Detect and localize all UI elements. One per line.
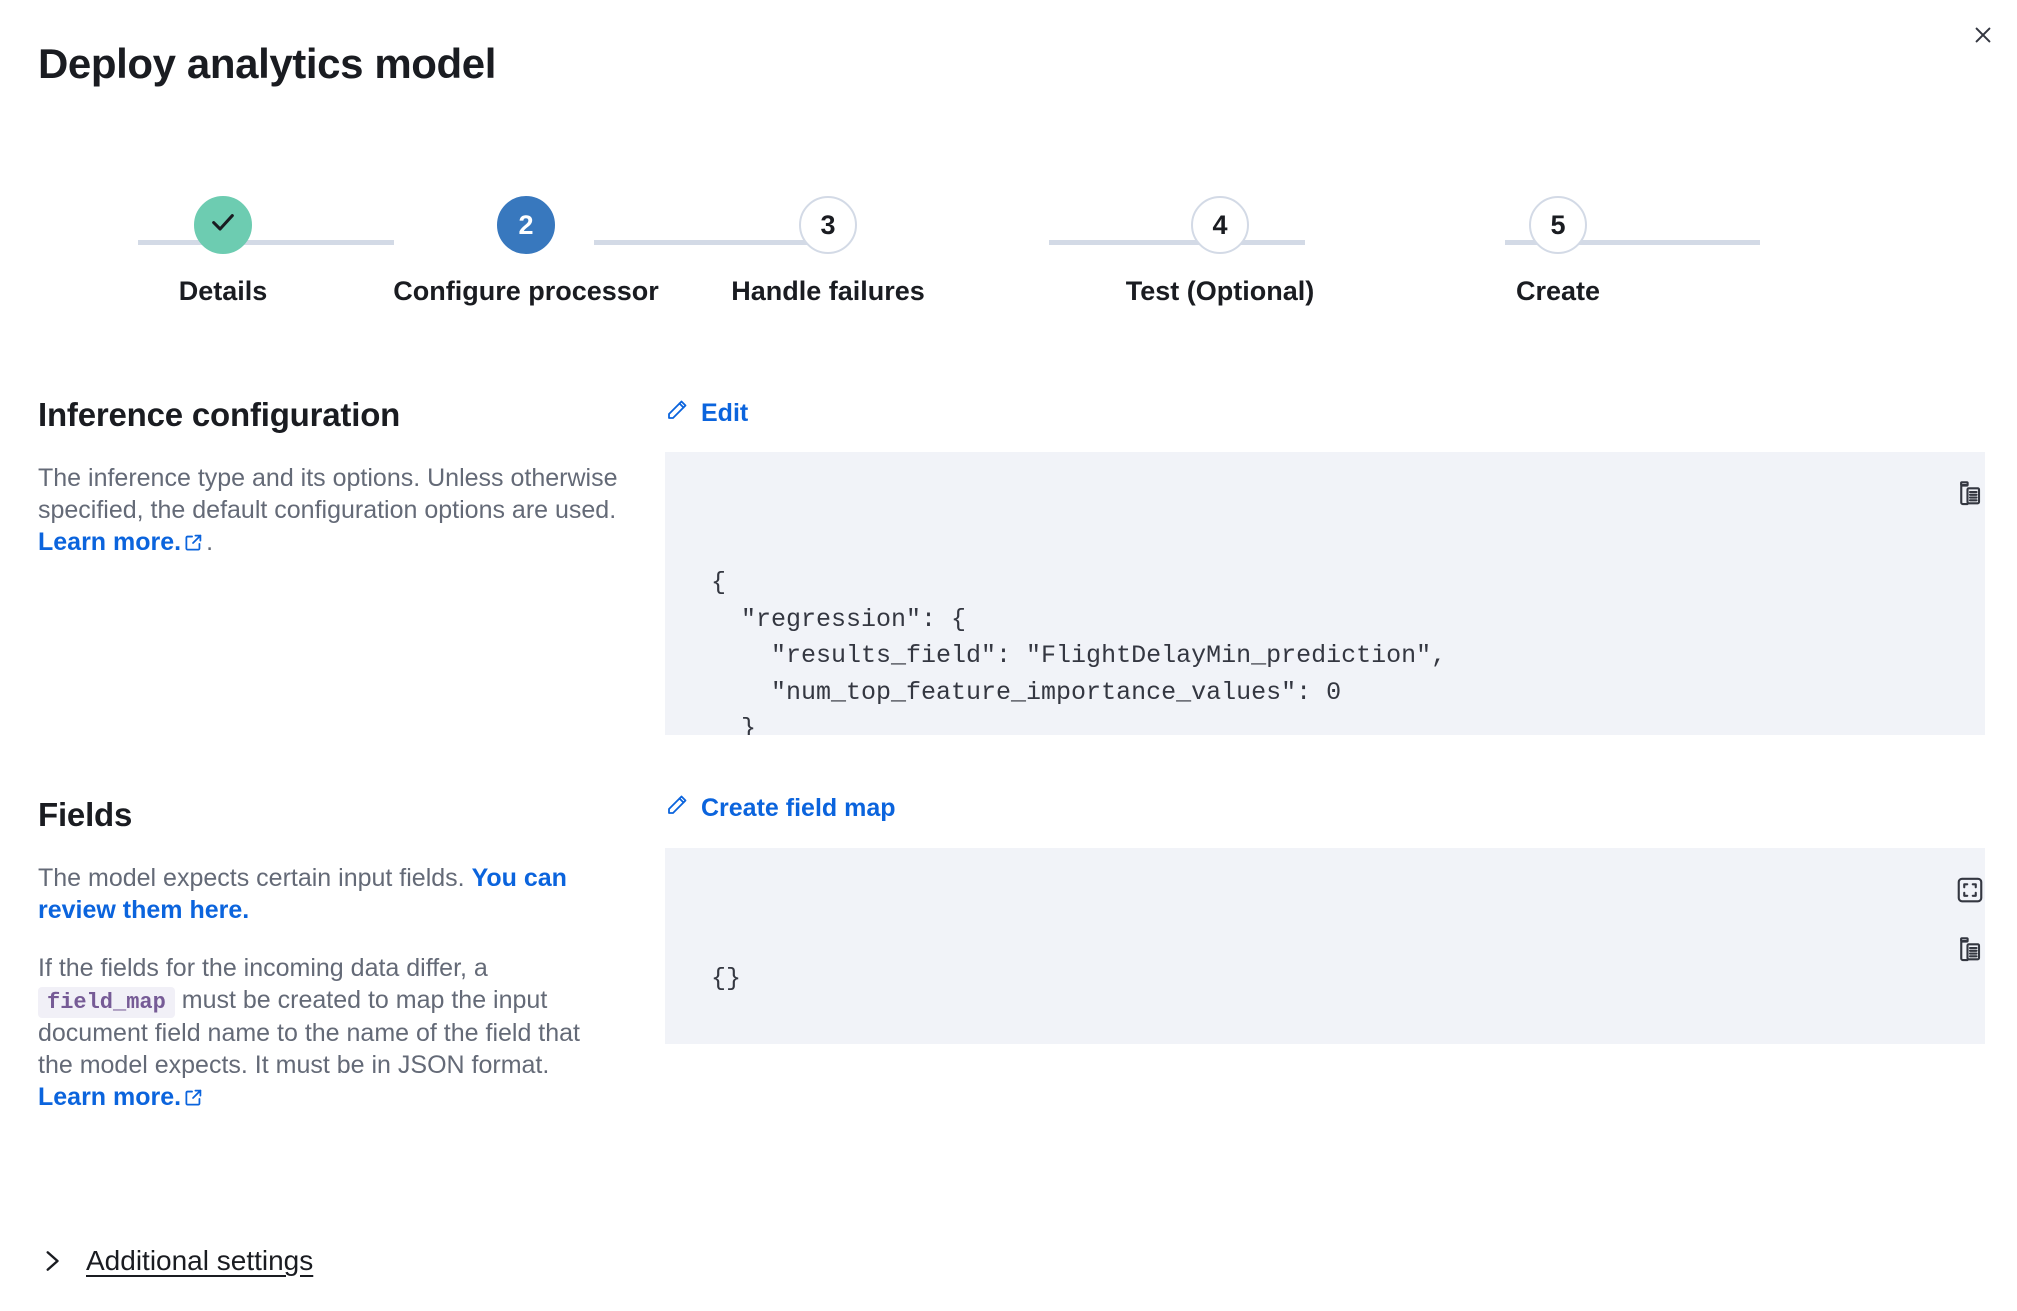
step-circle-1 [194,196,252,254]
fields-desc1-text: The model expects certain input fields. [38,864,472,892]
inference-configuration-description: Inference configuration The inference ty… [38,396,618,560]
edit-inference-config-label: Edit [701,399,748,428]
fields-learn-more-link[interactable]: Learn more. [38,1083,181,1111]
additional-settings-label: Additional settings [86,1245,313,1277]
external-link-icon [184,528,203,560]
inference-learn-more-link[interactable]: Learn more. [38,528,181,556]
pencil-icon [665,793,689,824]
copy-inference-config-button[interactable] [1921,472,1967,518]
step-circle-2: 2 [497,196,555,254]
copy-icon [1903,464,1985,527]
fields-description: Fields The model expects certain input f… [38,796,618,1115]
check-icon [209,208,237,243]
create-field-map-button[interactable]: Create field map [665,793,896,824]
wizard-stepper: Details 2 Configure processor 3 Handle f… [38,196,1860,326]
step-label-4: Test (Optional) [1126,276,1315,307]
step-circle-5: 5 [1529,196,1587,254]
step-label-5: Create [1516,276,1600,307]
fields-desc2-text-start: If the fields for the incoming data diff… [38,954,488,982]
step-circle-4: 4 [1191,196,1249,254]
deploy-model-flyout: Deploy analytics model Details [0,0,2017,1311]
copy-icon [1903,920,1985,983]
inference-desc-text: The inference type and its options. Unle… [38,464,617,524]
inference-configuration-editor: Edit { "regression": { "results_field": … [665,398,1985,735]
copy-field-map-button[interactable] [1921,928,1967,974]
inference-section-description: The inference type and its options. Unle… [38,462,618,560]
chevron-right-icon [38,1248,64,1274]
stepper-step-test-optional[interactable]: 4 Test (Optional) [1120,196,1320,307]
expand-field-map-button[interactable] [1921,868,1967,914]
close-button[interactable] [1961,14,2005,58]
field-map-editor: Create field map {} [665,793,1985,1044]
external-link-icon [184,1083,203,1115]
inference-desc-trailing: . [206,528,213,556]
step-circle-3: 3 [799,196,857,254]
pencil-icon [665,398,689,429]
field-map-code-tools [1921,868,1967,974]
inference-config-code-block[interactable]: { "regression": { "results_field": "Flig… [665,452,1985,735]
field-map-code-text: {} [711,961,1939,998]
step-label-1: Details [179,276,268,307]
inference-section-title: Inference configuration [38,396,618,434]
expand-icon [1903,860,1985,923]
step-label-2: Configure processor [393,276,659,307]
inference-config-code-text: { "regression": { "results_field": "Flig… [711,565,1939,735]
fields-description-1: The model expects certain input fields. … [38,862,618,926]
field-map-code-token: field_map [38,987,175,1018]
stepper-step-details[interactable]: Details [123,196,323,307]
stepper-step-create[interactable]: 5 Create [1458,196,1658,307]
stepper-step-configure-processor[interactable]: 2 Configure processor [426,196,626,307]
page-title: Deploy analytics model [38,40,496,88]
fields-section-title: Fields [38,796,618,834]
stepper-step-handle-failures[interactable]: 3 Handle failures [728,196,928,307]
fields-description-2: If the fields for the incoming data diff… [38,952,618,1115]
step-label-3: Handle failures [731,276,925,307]
field-map-code-block[interactable]: {} [665,848,1985,1044]
close-icon [1972,24,1994,49]
inference-code-tools [1921,472,1967,518]
edit-inference-config-button[interactable]: Edit [665,398,748,429]
additional-settings-accordion[interactable]: Additional settings [38,1245,313,1277]
create-field-map-label: Create field map [701,794,896,823]
